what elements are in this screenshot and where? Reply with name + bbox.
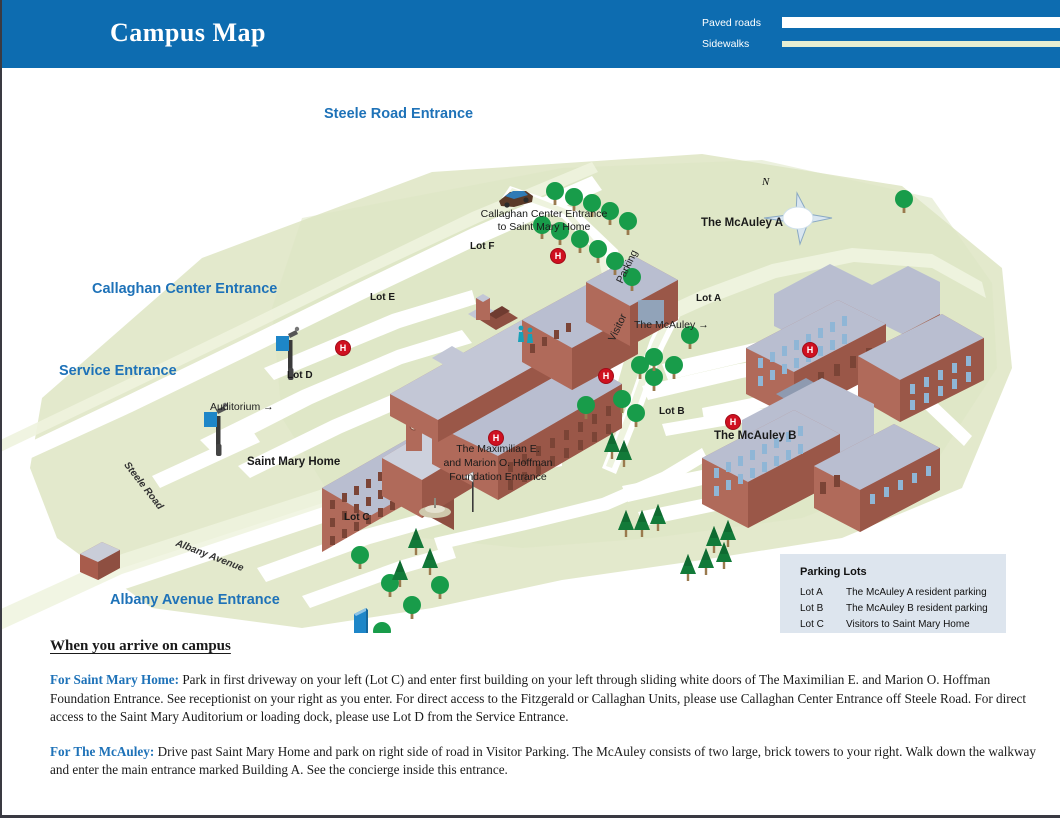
parking-legend-key: Lot C [800, 619, 842, 630]
arrival-body-mcauley: Drive past Saint Mary Home and park on r… [50, 744, 1036, 778]
label-lot-a: Lot A [696, 293, 721, 304]
parking-legend-title: Parking Lots [800, 566, 867, 578]
paved-road-swatch [782, 17, 1060, 28]
handicap-badge-visitor: H [598, 368, 614, 384]
header-legend: Paved roads Sidewalks [692, 14, 1060, 56]
arrival-body-saint-mary-home: Park in first driveway on your left (Lot… [50, 672, 1026, 724]
campus-map-canvas[interactable]: Steele Road Entrance Callaghan Center En… [2, 68, 1060, 633]
label-lot-c: Lot C [344, 512, 370, 523]
label-steele-road-entrance: Steele Road Entrance [324, 106, 473, 122]
handicap-badge-mcauley-a: H [802, 342, 818, 358]
handicap-badge-hoffman: H [488, 430, 504, 446]
label-callaghan-center-entrance: Callaghan Center Entrance [92, 281, 277, 297]
compass-north-label: N [762, 176, 769, 188]
parking-legend-value: The McAuley A resident parking [846, 587, 987, 598]
label-callaghan-note-line2: to Saint Mary Home [480, 221, 608, 234]
arrival-lead-saint-mary-home: For Saint Mary Home: [50, 672, 179, 687]
parking-legend-value: The McAuley B resident parking [846, 603, 988, 614]
page-title: Campus Map [110, 18, 266, 48]
label-lot-f: Lot F [470, 241, 494, 252]
sidewalk-swatch [782, 41, 1060, 47]
label-callaghan-note-line1: Callaghan Center Entrance [480, 208, 608, 221]
legend-row-paved-roads: Paved roads [692, 14, 1060, 35]
legend-label-sidewalks: Sidewalks [702, 38, 749, 50]
label-the-mcauley-b: The McAuley B [714, 430, 796, 442]
parking-legend-key: Lot B [800, 603, 842, 614]
label-the-mcauley-a: The McAuley A [701, 217, 783, 229]
legend-row-sidewalks: Sidewalks [692, 35, 1060, 56]
label-albany-avenue-entrance: Albany Avenue Entrance [110, 592, 280, 608]
handicap-badge-lot-d: H [335, 340, 351, 356]
handicap-badge-mcauley-b: H [725, 414, 741, 430]
label-mcauley-arrow: The McAuley → [634, 319, 709, 331]
arrival-lead-mcauley: For The McAuley: [50, 744, 154, 759]
label-hoffman-line2: and Marion O. Hoffman [434, 457, 562, 470]
arrival-heading: When you arrive on campus [50, 638, 1040, 655]
label-saint-mary-home: Saint Mary Home [247, 456, 340, 468]
page-header: Campus Map Paved roads Sidewalks [2, 0, 1060, 68]
label-auditorium-arrow: Auditorium → [210, 401, 274, 413]
arrival-paragraph-saint-mary-home: For Saint Mary Home: Park in first drive… [50, 671, 1040, 727]
parking-lots-legend: Parking Lots Lot A The McAuley A residen… [780, 554, 1006, 633]
label-lot-d: Lot D [287, 370, 313, 381]
label-hoffman-line3: Foundation Entrance [434, 471, 562, 484]
label-service-entrance: Service Entrance [59, 363, 177, 379]
label-lot-e: Lot E [370, 292, 395, 303]
handicap-badge-lot-f: H [550, 248, 566, 264]
campus-map-page: Campus Map Paved roads Sidewalks [0, 0, 1060, 818]
arrival-paragraph-mcauley: For The McAuley: Drive past Saint Mary H… [50, 743, 1040, 780]
arrival-instructions: When you arrive on campus For Saint Mary… [50, 638, 1040, 780]
parking-legend-key: Lot A [800, 587, 842, 598]
map-artwork [2, 68, 1060, 633]
parking-legend-value: Visitors to Saint Mary Home [846, 619, 970, 630]
legend-label-paved-roads: Paved roads [702, 17, 761, 29]
label-lot-b: Lot B [659, 406, 685, 417]
